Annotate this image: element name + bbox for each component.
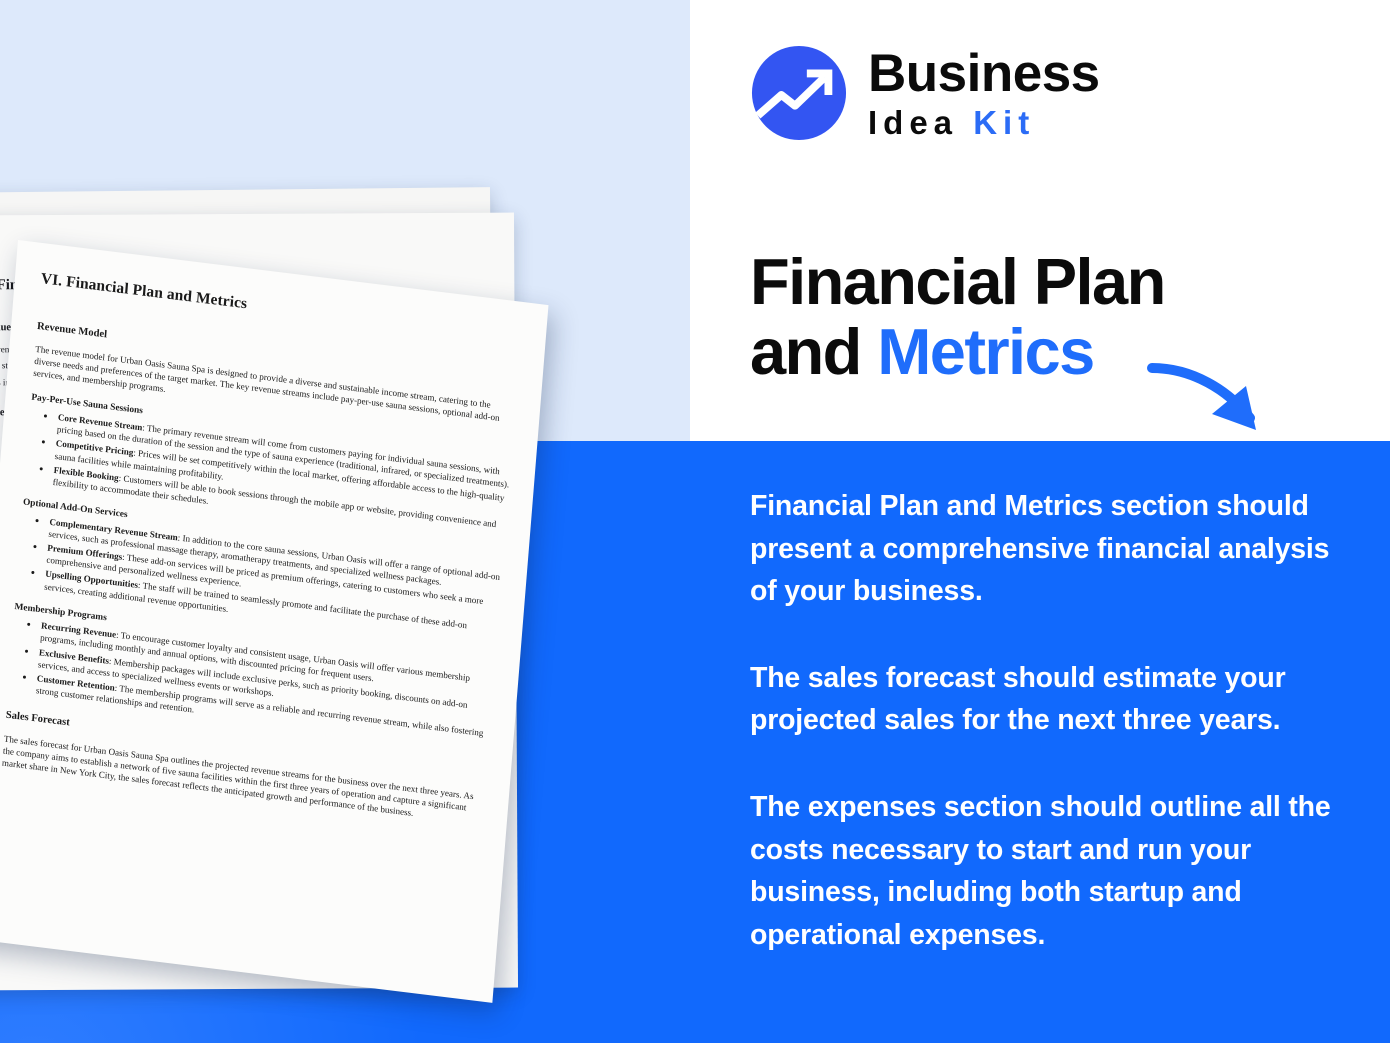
panel-description: Financial Plan and Metrics section shoul…: [750, 485, 1350, 956]
document-page-front: VI. Financial Plan and Metrics Revenue M…: [0, 240, 548, 1003]
panel-paragraph-1: Financial Plan and Metrics section shoul…: [750, 485, 1350, 613]
panel-paragraph-3: The expenses section should outline all …: [750, 786, 1350, 956]
document-stack: VI. Financial Plan and Metrics Revenue M…: [0, 0, 760, 1000]
brand-name-line-2: Idea Kit: [868, 106, 1100, 139]
brand-name-line-1: Business: [868, 47, 1100, 100]
page-title-line-2-prefix: and: [750, 315, 877, 388]
page-title-line-1: Financial Plan: [750, 245, 1165, 318]
brand-name-idea: Idea: [868, 104, 958, 141]
brand-name-kit: Kit: [973, 104, 1035, 141]
page-title-line-2-accent: Metrics: [877, 315, 1093, 388]
trending-up-chart-icon: [750, 44, 848, 142]
brand-wordmark: Business Idea Kit: [868, 47, 1100, 139]
document-page-front-content: VI. Financial Plan and Metrics Revenue M…: [0, 240, 548, 853]
curved-arrow-down-right-icon: [1142, 352, 1292, 448]
brand-logo: Business Idea Kit: [750, 44, 1100, 142]
poster-canvas: VI. Financial Plan and Metrics Revenue M…: [0, 0, 1390, 1043]
panel-paragraph-2: The sales forecast should estimate your …: [750, 657, 1350, 742]
